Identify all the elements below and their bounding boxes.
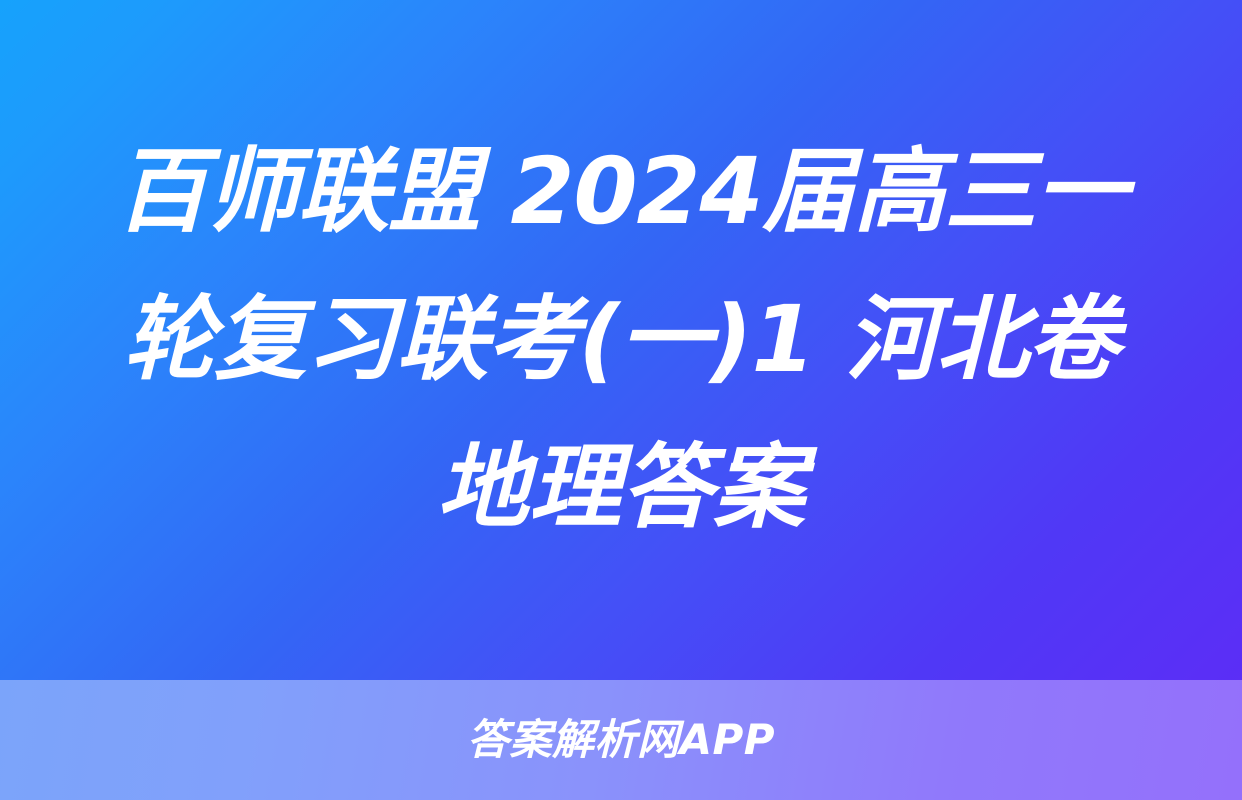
headline-line-3: 地理答案 — [72, 414, 1170, 562]
headline-line-2: 轮复习联考(一)1 河北卷 — [72, 266, 1170, 414]
headline-line-1: 百师联盟 2024届高三一 — [72, 118, 1170, 266]
footer-watermark-text: 答案解析网APP — [467, 719, 775, 761]
poster-canvas: 百师联盟 2024届高三一 轮复习联考(一)1 河北卷 地理答案 答案解析网AP… — [0, 0, 1242, 800]
footer-watermark-band: 答案解析网APP — [0, 680, 1242, 800]
headline-block: 百师联盟 2024届高三一 轮复习联考(一)1 河北卷 地理答案 — [0, 0, 1242, 680]
